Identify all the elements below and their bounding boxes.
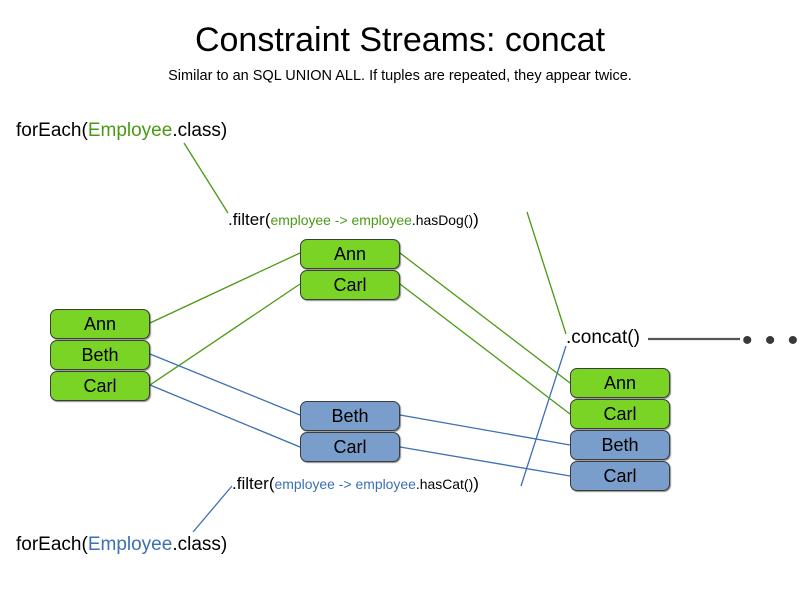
foreach-bottom-label: forEach(Employee.class): [16, 533, 227, 557]
wire-cat-beth-result-beth: [400, 415, 570, 445]
wire-source-beth-cat-beth: [150, 354, 300, 415]
node-cat-filtered-0[interactable]: Beth: [300, 401, 400, 431]
foreach-top-suffix: .class): [172, 120, 227, 141]
filter-cat-prefix: .filter(: [232, 474, 275, 493]
wire-source-ann-dog-ann: [150, 253, 300, 323]
leader-foreach-bottom: [193, 486, 232, 532]
filter-cat-suffix: ): [473, 474, 479, 493]
filter-dog-prefix: .filter(: [228, 210, 271, 229]
connector-lines: [0, 0, 800, 600]
foreach-top-type: Employee: [88, 120, 173, 141]
page-title: Constraint Streams: concat: [0, 20, 800, 60]
concat-label: .concat(): [566, 326, 640, 350]
node-concat-result-2[interactable]: Beth: [570, 430, 670, 460]
foreach-bottom-suffix: .class): [172, 534, 227, 555]
filter-dog-suffix: ): [473, 210, 479, 229]
ellipsis-continuation: • • •: [742, 326, 800, 356]
foreach-bottom-prefix: forEach(: [16, 534, 88, 555]
node-concat-result-3[interactable]: Carl: [570, 461, 670, 491]
foreach-bottom-type: Employee: [88, 534, 173, 555]
filter-cat-lambda: employee -> employee: [275, 476, 416, 492]
wire-source-carl-cat-carl: [150, 385, 300, 447]
node-source-2[interactable]: Carl: [50, 371, 150, 401]
node-source-0[interactable]: Ann: [50, 309, 150, 339]
filter-cat-method: .hasCat(): [416, 476, 473, 492]
node-concat-result-1[interactable]: Carl: [570, 399, 670, 429]
node-cat-filtered-1[interactable]: Carl: [300, 432, 400, 462]
node-source-1[interactable]: Beth: [50, 340, 150, 370]
node-concat-result-0[interactable]: Ann: [570, 368, 670, 398]
page-subtitle: Similar to an SQL UNION ALL. If tuples a…: [0, 66, 800, 86]
filter-cat-label: .filter(employee -> employee.hasCat()): [232, 473, 479, 495]
filter-dog-lambda: employee -> employee: [271, 212, 412, 228]
foreach-top-prefix: forEach(: [16, 120, 88, 141]
filter-dog-method: .hasDog(): [412, 212, 473, 228]
wire-cat-carl-result-carl: [400, 447, 570, 476]
leader-foreach-top: [184, 143, 228, 213]
leader-filter-cat-concat: [521, 346, 566, 486]
diagram-canvas: Constraint Streams: concat Similar to an…: [0, 0, 800, 600]
node-dog-filtered-1[interactable]: Carl: [300, 270, 400, 300]
node-dog-filtered-0[interactable]: Ann: [300, 239, 400, 269]
wire-source-carl-dog-carl: [150, 284, 300, 385]
wire-dog-ann-result-ann: [400, 253, 570, 383]
wire-dog-carl-result-carl: [400, 284, 570, 414]
leader-filter-dog-concat: [527, 212, 566, 334]
filter-dog-label: .filter(employee -> employee.hasDog()): [228, 209, 479, 231]
foreach-top-label: forEach(Employee.class): [16, 119, 227, 143]
